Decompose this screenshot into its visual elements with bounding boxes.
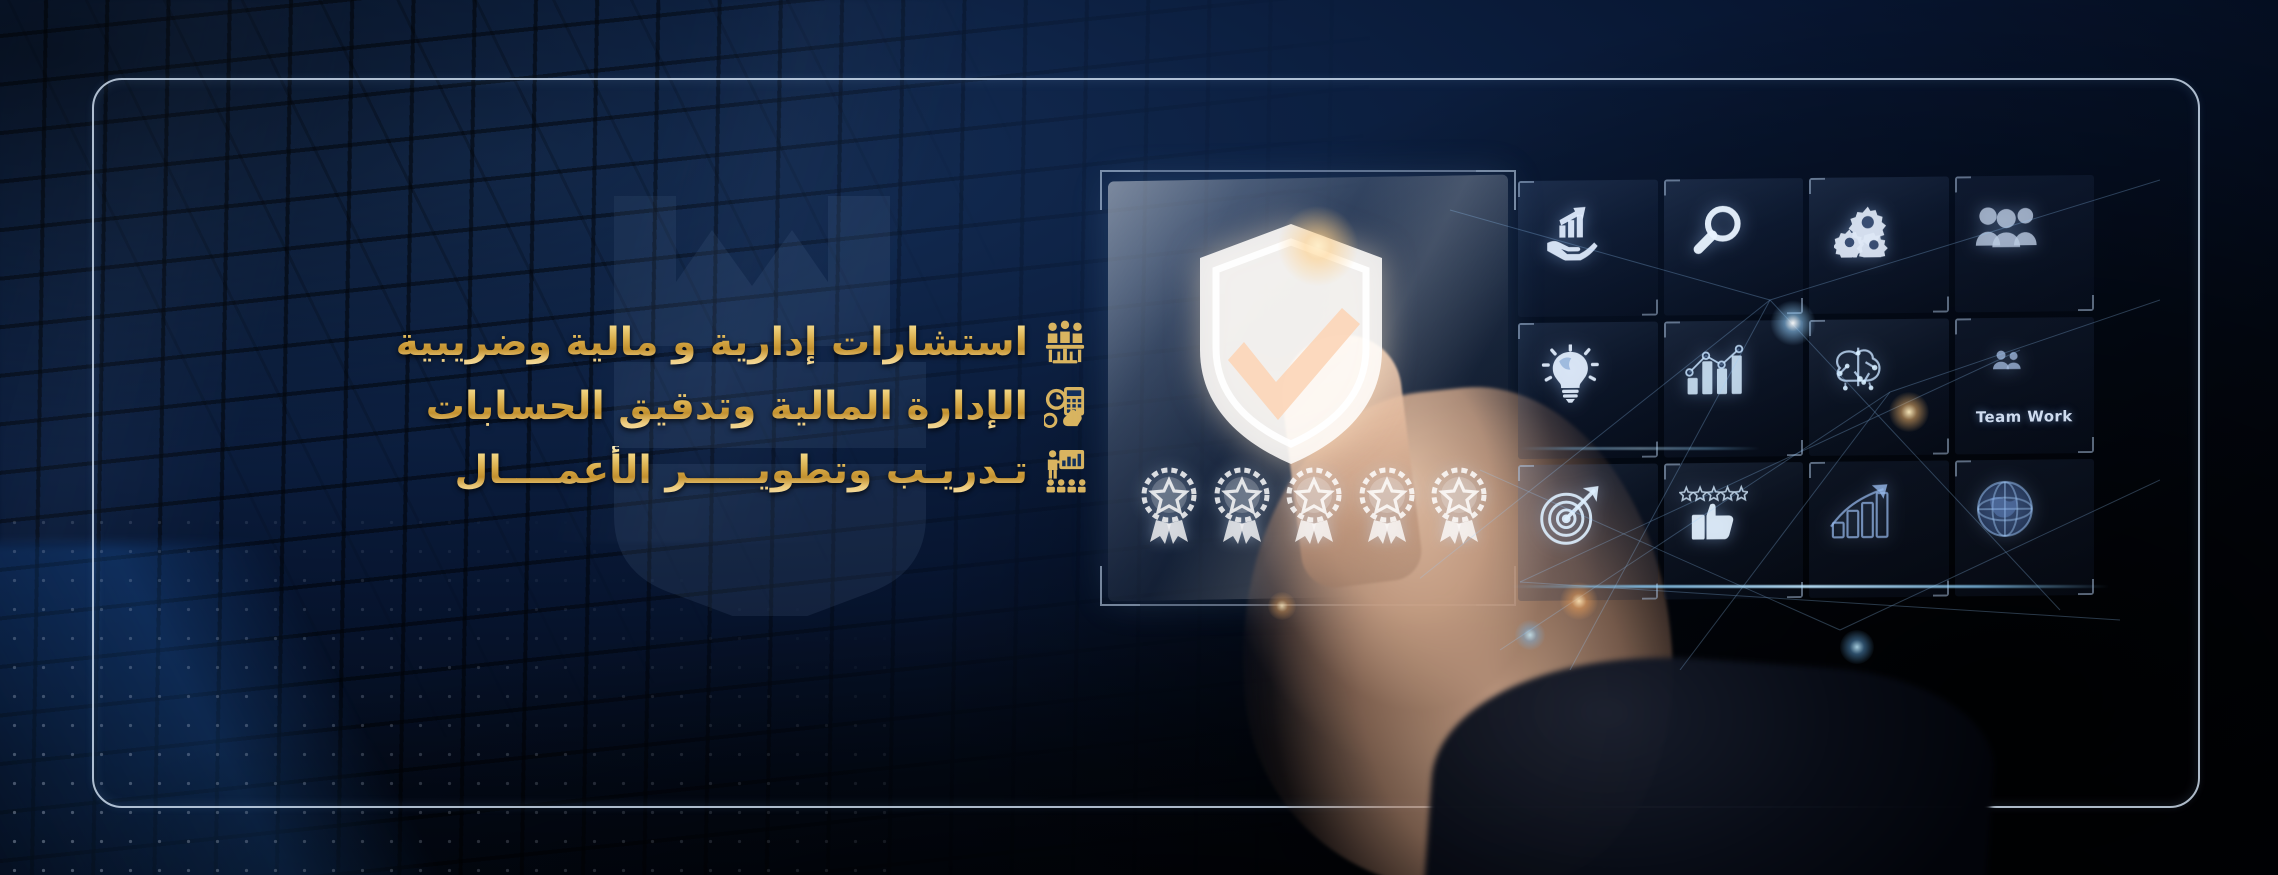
- grid-tile-settings[interactable]: [1809, 177, 1949, 314]
- magnifier-icon: [1689, 203, 1778, 291]
- star-award-ribbon-icon: [1358, 466, 1416, 546]
- headline-item-training: تـدريـب وتطويـــــر الأعمــــال: [396, 446, 1086, 496]
- grid-tile-analytics[interactable]: [1664, 320, 1804, 457]
- training-presentation-icon: [1044, 448, 1086, 494]
- two-persons-icon: [1991, 346, 2058, 404]
- lightbulb-icon: [1540, 344, 1635, 437]
- grid-tile-growth-in-hand[interactable]: [1518, 180, 1658, 317]
- bracket-top-right: [1476, 170, 1516, 210]
- award-badge-row: [1140, 462, 1488, 550]
- headline-list: استشارات إدارية و مالية وضريبية: [396, 318, 1086, 496]
- headline-text-financial-management: الإدارة المالية وتدقيق الحسابات: [426, 382, 1028, 432]
- team-work-label: Team Work: [1976, 407, 2073, 426]
- thumbs-up-stars-icon: [1679, 477, 1788, 584]
- grid-tile-idea[interactable]: [1518, 322, 1658, 459]
- meeting-consultation-icon: [1044, 320, 1086, 366]
- banner-stage: استشارات إدارية و مالية وضريبية: [0, 0, 2278, 875]
- shield-checkmark-icon: [1176, 218, 1406, 470]
- grid-tile-global-network[interactable]: [1955, 459, 2095, 596]
- star-award-ribbon-icon: [1430, 466, 1488, 546]
- team-work-tile-content: Team Work: [1955, 317, 2095, 454]
- star-award-ribbon-icon: [1285, 466, 1343, 546]
- growth-arrow-chart-icon: [1829, 480, 1929, 579]
- grid-tile-rating[interactable]: [1664, 462, 1804, 599]
- brain-network-icon: [1827, 336, 1930, 438]
- grid-tile-growth[interactable]: [1809, 461, 1949, 598]
- target-arrow-icon: [1538, 483, 1638, 582]
- grid-tile-ai-brain[interactable]: [1809, 319, 1949, 456]
- gears-icon: [1834, 201, 1923, 289]
- hand-growth-chart-icon: [1543, 204, 1632, 292]
- bracket-bottom-left: [1100, 566, 1140, 606]
- service-icon-grid: Team Work: [1518, 175, 2094, 601]
- globe-network-icon: [1971, 475, 2077, 579]
- headline-item-consulting: استشارات إدارية و مالية وضريبية: [396, 318, 1086, 368]
- star-award-ribbon-icon: [1213, 466, 1271, 546]
- bar-chart-trend-icon: [1683, 339, 1783, 438]
- headline-text-training: تـدريـب وتطويـــــر الأعمــــال: [455, 446, 1029, 496]
- group-people-icon: [1975, 196, 2073, 292]
- calculator-audit-icon: [1044, 384, 1086, 430]
- headline-item-financial-management: الإدارة المالية وتدقيق الحسابات: [396, 382, 1086, 432]
- grid-tile-search[interactable]: [1664, 178, 1804, 315]
- headline-text-consulting: استشارات إدارية و مالية وضريبية: [396, 318, 1028, 368]
- star-award-ribbon-icon: [1140, 466, 1198, 546]
- grid-tile-team-work[interactable]: Team Work: [1955, 317, 2095, 454]
- bracket-line-top: [1140, 170, 1476, 172]
- grid-tile-people[interactable]: [1955, 175, 2095, 312]
- grid-tile-target[interactable]: [1518, 464, 1658, 601]
- bracket-top-left: [1100, 170, 1140, 210]
